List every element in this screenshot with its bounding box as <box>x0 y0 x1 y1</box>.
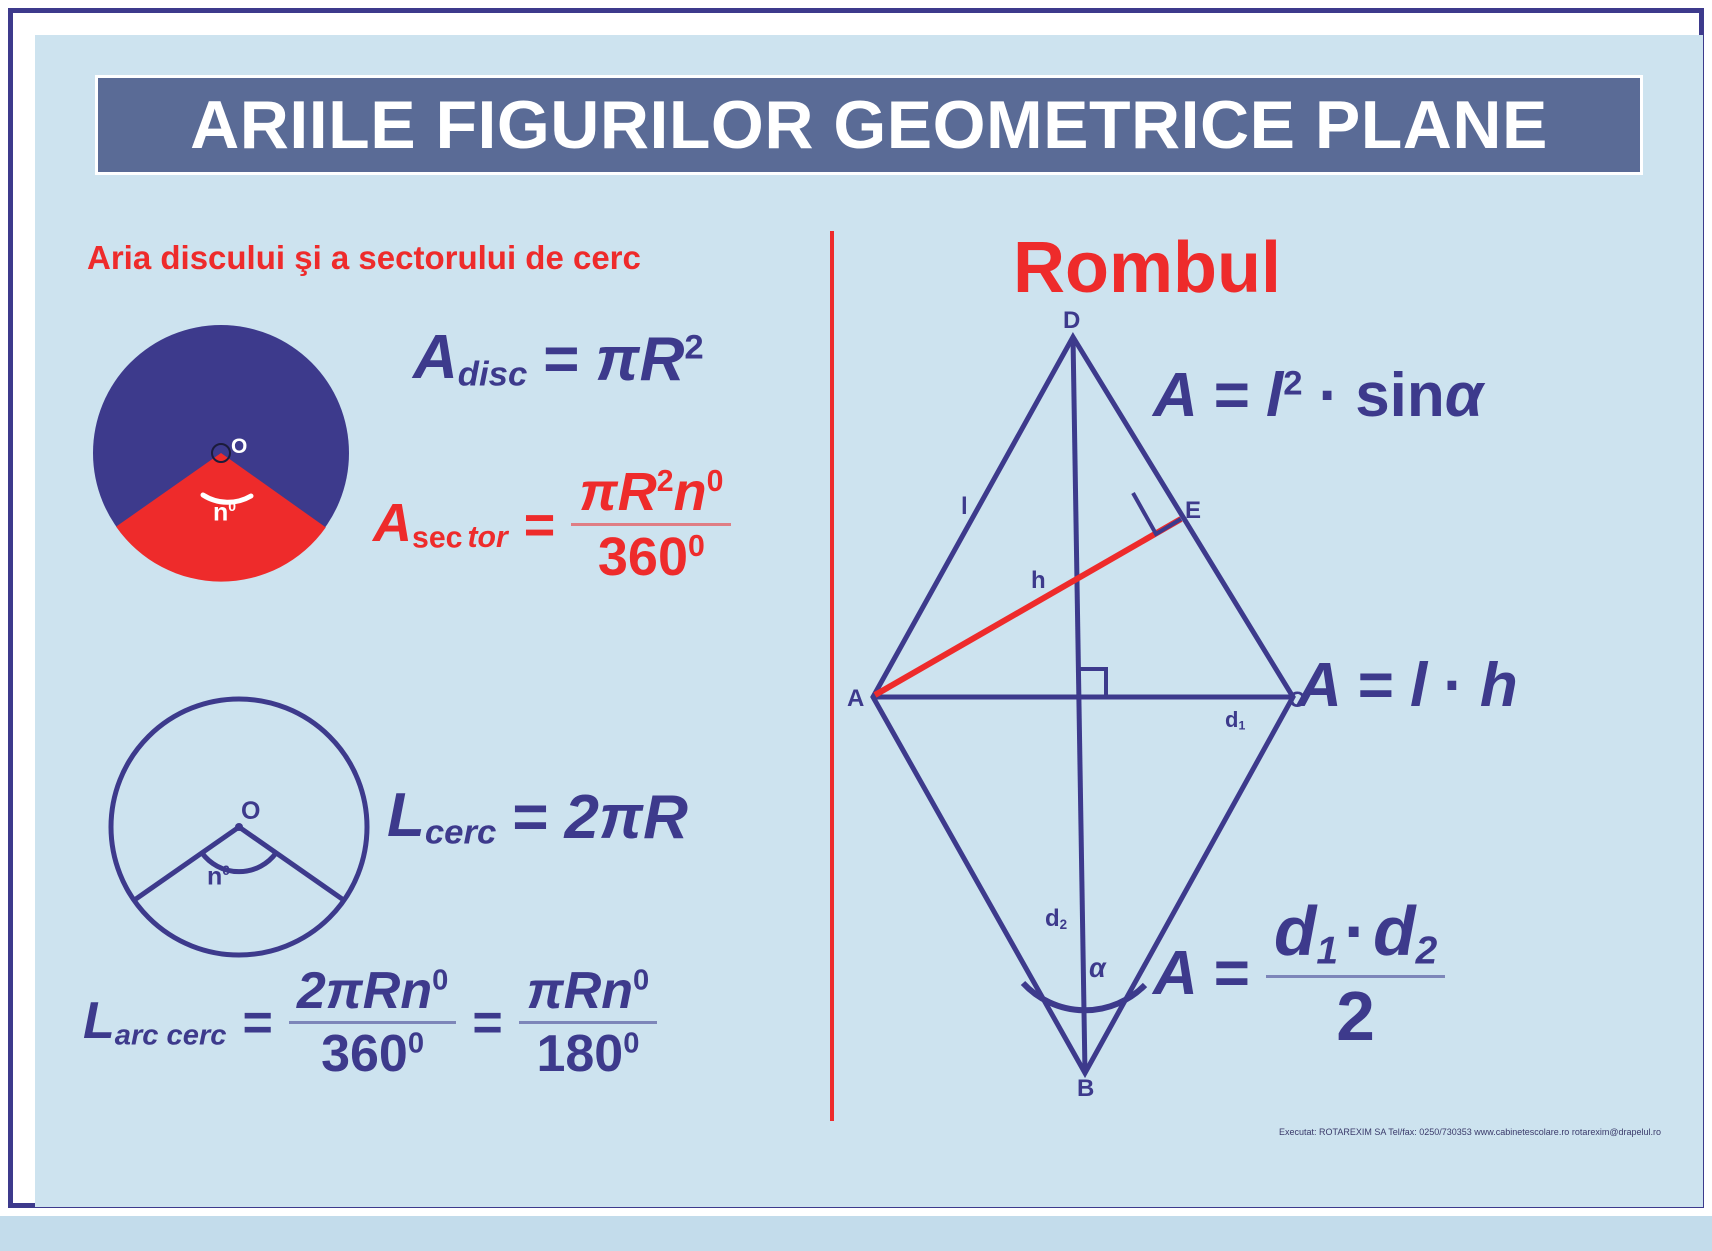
rhombus-vertex-A: A <box>847 685 864 713</box>
left-section-heading: Aria discului şi a sectorului de cerc <box>87 239 641 277</box>
formula-length-arc: Larc cerc = 2πRn0 3600 = πRn0 1800 <box>83 965 657 1080</box>
formula-area-sector: Asector = πR2n0 3600 <box>373 465 731 584</box>
poster-outer-frame: ARIILE FIGURILOR GEOMETRICE PLANE Aria d… <box>8 8 1704 1208</box>
rhombus-diagonal-d1-label: d1 <box>1225 707 1245 733</box>
footer-credit: Executat: ROTAREXIM SA Tel/fax: 0250/730… <box>1235 1127 1705 1137</box>
rhombus-angle-alpha-label: α <box>1089 953 1106 984</box>
fraction-arc-360: 2πRn0 3600 <box>289 965 456 1080</box>
circle-radius-right <box>239 827 345 901</box>
diagonal-d2 <box>1073 337 1085 1073</box>
formula-length-circle: Lcerc = 2πR <box>387 785 688 850</box>
height-segment-h <box>875 519 1181 695</box>
rhombus-point-E: E <box>1185 497 1201 525</box>
rhombus-side-label: l <box>961 493 968 521</box>
fraction-rhombus-diagonals: d1·d2 2 <box>1266 897 1445 1052</box>
right-angle-at-E <box>1133 493 1181 534</box>
disc-diagram <box>93 325 349 582</box>
formula-area-disc: Adisc = πR2 <box>413 327 704 392</box>
rhombus-height-label: h <box>1031 567 1046 595</box>
rhombus-vertex-D: D <box>1063 307 1080 335</box>
disc-center-label: O <box>231 435 247 459</box>
poster-root: ARIILE FIGURILOR GEOMETRICE PLANE Aria d… <box>0 0 1712 1216</box>
right-section-heading: Rombul <box>1013 227 1281 309</box>
poster-title-bar: ARIILE FIGURILOR GEOMETRICE PLANE <box>95 75 1643 175</box>
right-angle-center <box>1078 669 1106 697</box>
disc-angle-label: n0 <box>213 498 236 527</box>
circle-shape <box>111 699 367 955</box>
circle-angle-label: n0 <box>207 862 230 891</box>
formula-rhombus-area-sin: A = l2 · sinα <box>1153 365 1483 427</box>
rhombus-diagonal-d2-label: d2 <box>1045 905 1067 933</box>
rhombus-vertex-B: B <box>1077 1075 1094 1103</box>
disc-shape <box>93 325 349 581</box>
circle-diagram <box>111 699 367 955</box>
fraction-arc-180: πRn0 1800 <box>519 965 658 1080</box>
formula-rhombus-area-diagonals: A = d1·d2 2 <box>1153 897 1445 1052</box>
section-divider <box>830 231 834 1121</box>
angle-alpha-arc <box>1023 983 1145 1010</box>
disc-center-marker <box>212 444 230 462</box>
poster-inner-background: ARIILE FIGURILOR GEOMETRICE PLANE Aria d… <box>35 35 1703 1207</box>
circle-center-label: O <box>241 797 260 826</box>
page-title: ARIILE FIGURILOR GEOMETRICE PLANE <box>190 86 1548 164</box>
formula-rhombus-area-lh: A = l · h <box>1297 655 1518 717</box>
fraction-area-sector: πR2n0 3600 <box>571 465 731 584</box>
